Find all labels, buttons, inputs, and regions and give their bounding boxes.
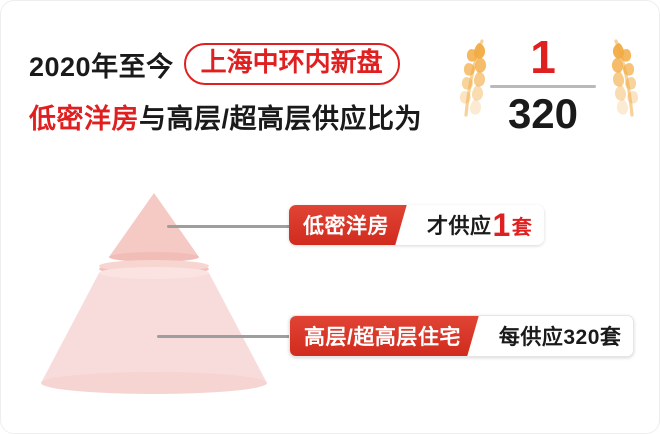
ratio-numerator: 1: [488, 31, 598, 83]
header-lowdensity-text: 低密洋房: [29, 97, 139, 136]
pyramid-bottom-tier: [41, 267, 267, 394]
callout-high-rise[interactable]: 高层/超高层住宅 每供应320套: [289, 315, 634, 357]
callout-high-rise-value: 每供应320套: [485, 316, 634, 356]
callout-low-density-value: 才供应 1 套: [413, 205, 544, 245]
header-highlight-pill: 上海中环内新盘: [184, 43, 400, 85]
header: 2020年至今 上海中环内新盘 低密洋房 与高层/超高层供应比为: [29, 41, 449, 141]
connector-line-bottom: [157, 335, 299, 338]
callout-high-rise-tag: 高层/超高层住宅: [290, 316, 485, 356]
infographic-card: 2020年至今 上海中环内新盘 低密洋房 与高层/超高层供应比为: [0, 0, 660, 434]
header-line-1: 2020年至今 上海中环内新盘: [29, 41, 449, 87]
header-comparison-text: 与高层/超高层供应比为: [139, 97, 422, 136]
supply-ratio: 1 320: [488, 31, 598, 138]
callout-low-density-tag: 低密洋房: [289, 205, 413, 245]
wheat-stalk-icon-right: [597, 37, 649, 121]
callout-low-density-prefix: 才供应: [427, 210, 492, 240]
connector-line-top: [167, 225, 299, 228]
header-period-text: 2020年至今: [29, 45, 174, 84]
ratio-denominator: 320: [488, 90, 598, 138]
pyramid-diagram: [19, 181, 289, 406]
callout-low-density-number: 1: [493, 209, 511, 241]
header-line-2: 低密洋房 与高层/超高层供应比为: [29, 93, 449, 139]
callout-low-density[interactable]: 低密洋房 才供应 1 套: [289, 205, 544, 245]
callout-low-density-unit: 套: [512, 211, 533, 240]
ratio-fraction-bar: [490, 85, 596, 88]
